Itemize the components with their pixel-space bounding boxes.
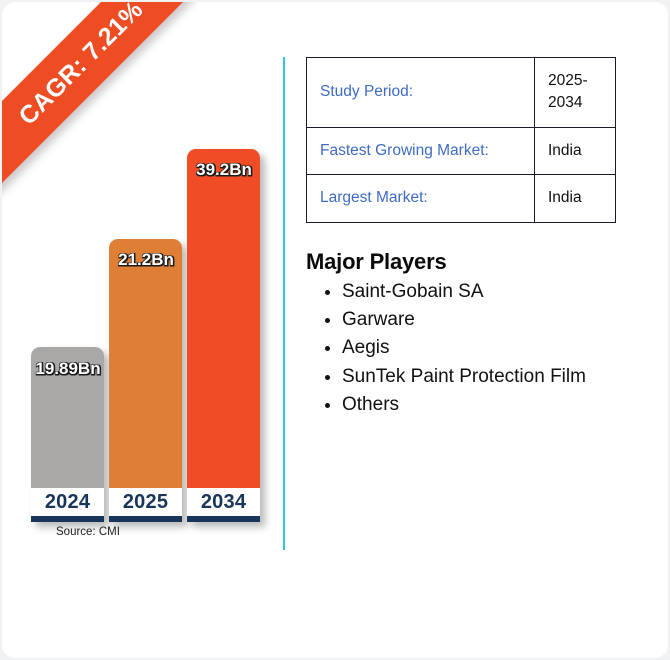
list-item: Saint-Gobain SA bbox=[342, 279, 618, 305]
table-label-study-period: Study Period: bbox=[307, 58, 535, 128]
bar-year-label-2025: 2025 bbox=[123, 491, 168, 514]
table-label-fastest-growing-market: Fastest Growing Market: bbox=[307, 127, 535, 174]
major-players-heading: Major Players bbox=[306, 249, 618, 275]
bar-year-box-2034: 2034 bbox=[187, 488, 260, 522]
table-label-largest-market: Largest Market: bbox=[307, 175, 535, 222]
bar-group-2025: 21.2Bn 2025 bbox=[109, 239, 182, 522]
table-row: Largest Market: India bbox=[307, 175, 616, 222]
bar-year-label-2034: 2034 bbox=[201, 491, 246, 514]
bar-value-2024: 19.89Bn bbox=[28, 359, 108, 379]
list-item: Aegis bbox=[342, 335, 618, 361]
list-item: Others bbox=[342, 392, 618, 418]
infographic-card: CAGR: 7.21% 19.89Bn 2024 21.2Bn 2025 39.… bbox=[2, 2, 668, 658]
bar-chart: 19.89Bn 2024 21.2Bn 2025 39.2Bn 2034 Sou… bbox=[2, 2, 282, 562]
list-item: Garware bbox=[342, 307, 618, 333]
bar-value-2025: 21.2Bn bbox=[106, 250, 186, 270]
bar-value-2034: 39.2Bn bbox=[184, 160, 264, 180]
right-panel: Study Period: 2025-2034 Fastest Growing … bbox=[306, 57, 618, 420]
bar-2025 bbox=[109, 239, 182, 522]
bar-group-2034: 39.2Bn 2034 bbox=[187, 149, 260, 522]
bar-year-box-2024: 2024 bbox=[31, 488, 104, 522]
table-value-fastest-growing-market: India bbox=[535, 127, 616, 174]
major-players-list: Saint-Gobain SA Garware Aegis SunTek Pai… bbox=[306, 279, 618, 418]
bar-year-label-2024: 2024 bbox=[45, 491, 90, 514]
bar-group-2024: 19.89Bn 2024 bbox=[31, 347, 104, 522]
vertical-divider bbox=[283, 57, 285, 550]
table-value-largest-market: India bbox=[535, 175, 616, 222]
table-row: Fastest Growing Market: India bbox=[307, 127, 616, 174]
list-item: SunTek Paint Protection Film bbox=[342, 364, 618, 390]
table-value-study-period: 2025-2034 bbox=[535, 58, 616, 128]
source-note: Source: CMI bbox=[56, 526, 120, 538]
bar-2034 bbox=[187, 149, 260, 522]
bar-year-box-2025: 2025 bbox=[109, 488, 182, 522]
market-info-table: Study Period: 2025-2034 Fastest Growing … bbox=[306, 57, 616, 223]
table-row: Study Period: 2025-2034 bbox=[307, 58, 616, 128]
